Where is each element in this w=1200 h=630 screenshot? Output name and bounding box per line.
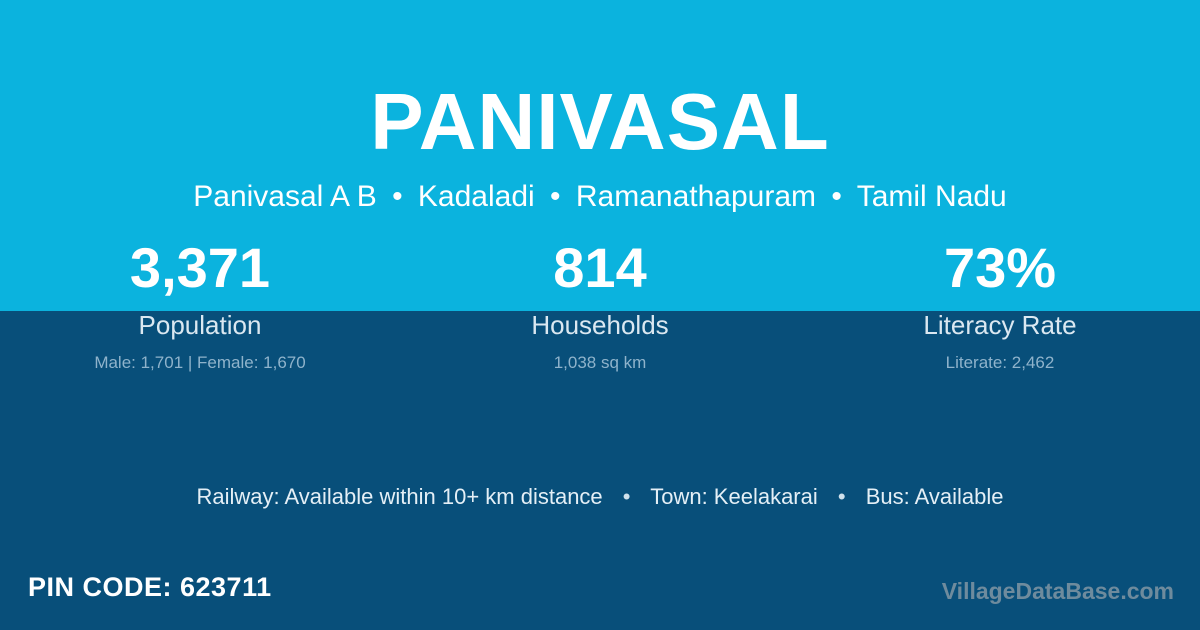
breadcrumb-item-village: Panivasal A B [193, 180, 376, 213]
breadcrumb-separator-icon: • [385, 180, 410, 213]
breadcrumb-separator-icon: • [824, 180, 849, 213]
amenity-town: Town: Keelakarai [650, 484, 818, 509]
page-title: PANIVASAL [0, 0, 1200, 162]
stat-value: 814 [400, 240, 800, 298]
amenity-separator-icon: • [824, 484, 860, 509]
stat-value: 3,371 [0, 240, 400, 298]
stat-sublabel: 1,038 sq km [400, 354, 800, 371]
breadcrumb-item-block: Kadaladi [418, 180, 535, 213]
brand-logo: VillageDataBase.com [942, 580, 1174, 603]
village-info-card: PANIVASAL Panivasal A B • Kadaladi • Ram… [0, 0, 1200, 630]
breadcrumb-item-district: Ramanathapuram [576, 180, 816, 213]
stat-sublabel: Male: 1,701 | Female: 1,670 [0, 354, 400, 371]
stat-label: Population [0, 312, 400, 338]
stats-row: 3,371 Population Male: 1,701 | Female: 1… [0, 240, 1200, 371]
stat-literacy-rate: 73% Literacy Rate Literate: 2,462 [800, 240, 1200, 371]
breadcrumb-item-state: Tamil Nadu [857, 180, 1007, 213]
stat-population: 3,371 Population Male: 1,701 | Female: 1… [0, 240, 400, 371]
amenity-railway: Railway: Available within 10+ km distanc… [196, 484, 602, 509]
stat-label: Households [400, 312, 800, 338]
card-header: PANIVASAL Panivasal A B • Kadaladi • Ram… [0, 0, 1200, 212]
pin-code: PIN CODE: 623711 [28, 574, 272, 601]
breadcrumb: Panivasal A B • Kadaladi • Ramanathapura… [0, 162, 1200, 212]
amenities-row: Railway: Available within 10+ km distanc… [0, 486, 1200, 508]
stat-sublabel: Literate: 2,462 [800, 354, 1200, 371]
amenity-separator-icon: • [609, 484, 645, 509]
amenity-bus: Bus: Available [866, 484, 1004, 509]
breadcrumb-separator-icon: • [543, 180, 568, 213]
card-footer: PIN CODE: 623711 VillageDataBase.com [0, 568, 1200, 630]
stat-households: 814 Households 1,038 sq km [400, 240, 800, 371]
stat-label: Literacy Rate [800, 312, 1200, 338]
stat-value: 73% [800, 240, 1200, 298]
